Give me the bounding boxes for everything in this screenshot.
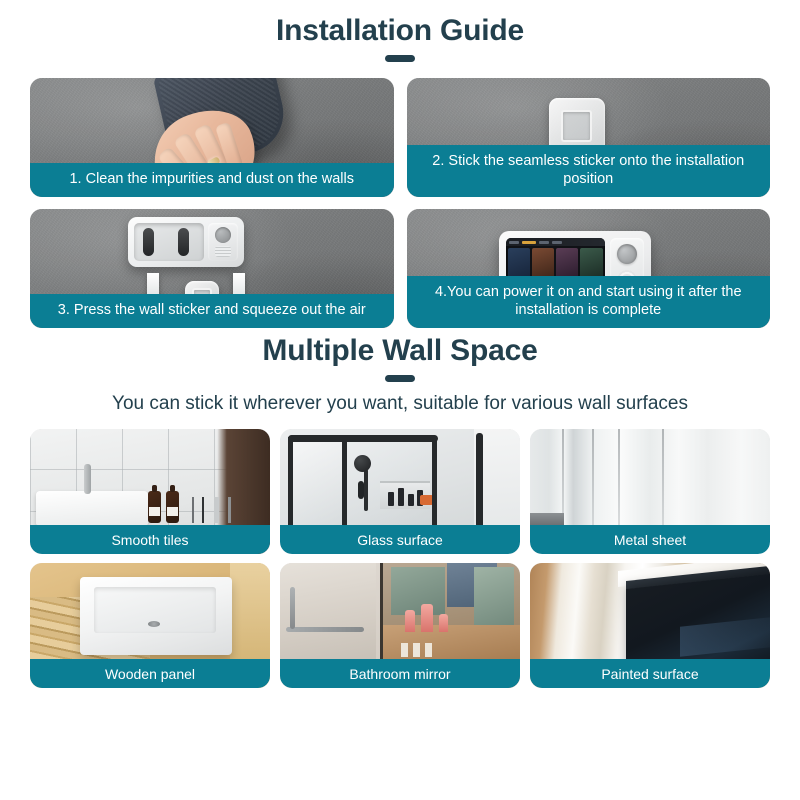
install-step-1-card: 1. Clean the impurities and dust on the …	[30, 78, 394, 197]
mount-slot	[178, 228, 189, 256]
surface-card-smooth-tiles: Smooth tiles	[30, 429, 270, 554]
surface-label-metal-sheet: Metal sheet	[530, 525, 770, 554]
sink-basin	[36, 491, 148, 525]
shower-frame-post	[432, 437, 437, 533]
reflected-toiletry	[425, 643, 432, 657]
counter-items	[188, 497, 240, 523]
infographic-page: Installation Guide 1. Clean the impuriti…	[0, 0, 800, 800]
reflected-pink-item	[421, 604, 433, 632]
title-accent-dash	[385, 375, 415, 382]
media-thumbnail	[580, 248, 602, 279]
mount-slot	[143, 228, 154, 256]
surface-card-bathroom-mirror: Bathroom mirror	[280, 563, 520, 688]
install-step-3-card: 3. Press the wall sticker and squeeze ou…	[30, 209, 394, 328]
reflected-green-area	[391, 567, 445, 615]
install-step-2-caption: 2. Stick the seamless sticker onto the i…	[407, 145, 771, 197]
shower-frame-post	[342, 437, 347, 533]
media-thumbnail	[556, 248, 578, 279]
surface-card-painted-surface: Painted surface	[530, 563, 770, 688]
multiple-wall-space-title: Multiple Wall Space	[0, 328, 800, 368]
surface-card-wooden-panel: Wooden panel	[30, 563, 270, 688]
installation-guide-title: Installation Guide	[0, 0, 800, 48]
wall-surfaces-grid: Smooth tiles	[30, 429, 770, 688]
surface-label-smooth-tiles: Smooth tiles	[30, 525, 270, 554]
shower-door-edge	[476, 433, 483, 533]
status-chip	[552, 241, 562, 244]
reflected-green-area	[474, 567, 514, 627]
media-thumbnail	[508, 248, 530, 279]
soap-bottle	[166, 491, 179, 523]
install-step-2-card: 2. Stick the seamless sticker onto the i…	[407, 78, 771, 197]
shower-head	[354, 455, 371, 472]
surface-label-glass-surface: Glass surface	[280, 525, 520, 554]
device-knob	[617, 244, 637, 264]
install-step-1-caption: 1. Clean the impurities and dust on the …	[30, 163, 394, 197]
surface-label-wooden-panel: Wooden panel	[30, 659, 270, 688]
install-step-3-caption: 3. Press the wall sticker and squeeze ou…	[30, 294, 394, 328]
grab-rail-vertical	[290, 587, 295, 629]
reflected-toiletry	[413, 643, 420, 657]
reflected-pink-item	[439, 614, 448, 632]
soap-bottle	[148, 491, 161, 523]
shelf-bottle	[388, 492, 394, 506]
reflected-toiletry	[401, 643, 408, 657]
device-knob	[215, 227, 231, 243]
wall-space-subtitle: You can stick it wherever you want, suit…	[0, 393, 800, 415]
surface-label-painted-surface: Painted surface	[530, 659, 770, 688]
installation-steps-grid: 1. Clean the impurities and dust on the …	[30, 78, 770, 328]
status-chip	[522, 241, 536, 244]
surface-card-glass-surface: Glass surface	[280, 429, 520, 554]
shower-slide-bar	[364, 469, 368, 511]
square-bathtub	[80, 577, 232, 655]
drain	[148, 621, 160, 627]
device-side-panel	[208, 223, 238, 261]
arrow-shaft	[233, 273, 245, 295]
device-mount-recess	[134, 223, 204, 261]
floor-strip	[530, 513, 564, 525]
shelf-bottle	[398, 488, 404, 506]
shower-frame-post	[288, 437, 293, 533]
screen-status-bar	[506, 238, 605, 246]
status-chip	[509, 241, 519, 244]
surface-card-metal-sheet: Metal sheet	[530, 429, 770, 554]
install-step-4-caption: 4.You can power it on and start using it…	[407, 276, 771, 328]
arrow-shaft	[147, 273, 159, 295]
surface-label-bathroom-mirror: Bathroom mirror	[280, 659, 520, 688]
shelf-bottle	[408, 494, 414, 506]
install-step-4-card: 4.You can power it on and start using it…	[407, 209, 771, 328]
faucet	[84, 464, 91, 494]
reflected-pink-item	[405, 610, 415, 632]
glass-panel	[293, 441, 342, 529]
speaker-grill	[215, 246, 231, 257]
device-rear-view	[128, 217, 244, 267]
status-chip	[539, 241, 549, 244]
media-thumbnail	[532, 248, 554, 279]
title-accent-dash	[385, 55, 415, 62]
grab-rail	[286, 627, 364, 632]
shower-handset	[358, 481, 364, 499]
shower-frame-rail	[288, 435, 438, 442]
